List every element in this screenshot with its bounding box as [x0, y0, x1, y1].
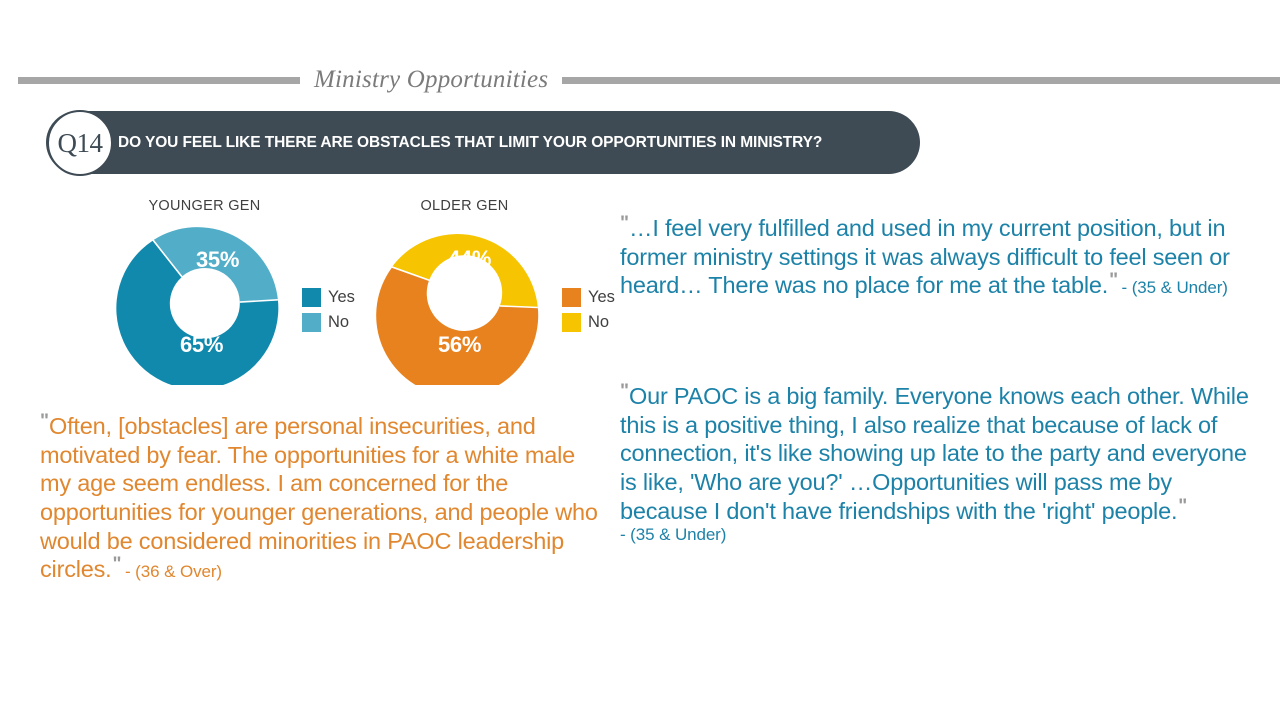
header-rule-right	[562, 77, 1280, 84]
quote-orange-attribution: - (36 & Over)	[125, 562, 222, 581]
donut-younger-gen: 35% 65% Yes No	[112, 220, 297, 385]
quote-blue-second: "Our PAOC is a big family. Everyone know…	[620, 382, 1260, 546]
legend-label-yes: Yes	[328, 288, 355, 307]
quote-blue-second-text: Our PAOC is a big family. Everyone knows…	[620, 383, 1249, 524]
legend-label-no: No	[328, 313, 349, 332]
chart-title-younger: YOUNGER GEN	[112, 198, 297, 214]
legend-item-yes: Yes	[562, 288, 615, 307]
quote-open-mark-icon: "	[40, 410, 48, 433]
page-title: Ministry Opportunities	[300, 66, 562, 94]
quote-open-mark-icon: "	[620, 380, 628, 403]
question-text: DO YOU FEEL LIKE THERE ARE OBSTACLES THA…	[118, 134, 822, 152]
legend-item-no: No	[562, 313, 615, 332]
legend-swatch-yes	[302, 288, 321, 307]
quote-blue-first-attribution: - (35 & Under)	[1122, 278, 1228, 297]
legend-older-gen: Yes No	[562, 288, 615, 338]
section-header: Ministry Opportunities	[0, 62, 1280, 98]
legend-label-yes: Yes	[588, 288, 615, 307]
quote-close-mark-icon: "	[1109, 269, 1117, 292]
legend-younger-gen: Yes No	[302, 288, 355, 338]
chart-older-gen: OLDER GEN 44% 56% Yes No	[372, 198, 557, 385]
chart-younger-gen: YOUNGER GEN 35% 65% Yes No	[112, 198, 297, 385]
legend-swatch-no	[302, 313, 321, 332]
quote-orange-text: Often, [obstacles] are personal insecuri…	[40, 413, 598, 582]
legend-swatch-no	[562, 313, 581, 332]
question-banner: DO YOU FEEL LIKE THERE ARE OBSTACLES THA…	[46, 111, 920, 174]
header-rule-left	[18, 77, 300, 84]
legend-swatch-yes	[562, 288, 581, 307]
quote-blue-first: "…I feel very fulfilled and used in my c…	[620, 214, 1260, 300]
quote-blue-second-attribution: - (35 & Under)	[620, 525, 726, 544]
legend-item-no: No	[302, 313, 355, 332]
quote-open-mark-icon: "	[620, 212, 628, 235]
legend-label-no: No	[588, 313, 609, 332]
donut-younger-svg	[112, 220, 297, 385]
question-number-label: Q14	[58, 130, 103, 157]
question-number-badge: Q14	[47, 110, 113, 176]
quote-close-mark-icon: "	[1178, 495, 1186, 518]
quote-orange: "Often, [obstacles] are personal insecur…	[40, 412, 600, 584]
donut-older-gen: 44% 56% Yes No	[372, 220, 557, 385]
donut-older-svg	[372, 220, 557, 385]
legend-item-yes: Yes	[302, 288, 355, 307]
quote-close-mark-icon: "	[113, 553, 121, 576]
chart-title-older: OLDER GEN	[372, 198, 557, 214]
